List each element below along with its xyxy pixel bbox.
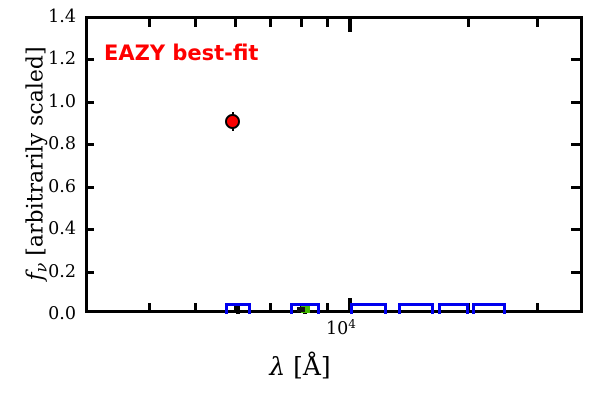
filter-box [438, 303, 469, 314]
filter-box [472, 303, 506, 314]
y-axis-title-rest: [arbitrarily scaled] [24, 46, 49, 262]
xtick-label-1e4: 104 [326, 317, 356, 339]
x-axis-title-symbol: λ [269, 352, 285, 381]
x-axis-title-unit: [Å] [293, 352, 331, 381]
figure-canvas: 1.4 1.2 1.0 0.8 0.6 0.4 0.2 0.0 [0, 0, 600, 400]
model-point-dark [297, 307, 305, 312]
filter-box [225, 303, 251, 314]
xtick-exponent: 4 [348, 317, 356, 331]
xtick-mantissa: 10 [326, 319, 348, 339]
y-axis-title: fν [arbitrarily scaled] [24, 0, 51, 328]
filter-box [350, 303, 387, 314]
filter-box [398, 303, 434, 314]
annotation-eazy-best-fit: EAZY best-fit [104, 41, 258, 65]
data-point-observed [225, 114, 240, 129]
y-axis-title-nu: ν [31, 263, 50, 273]
x-axis-title: λ [Å] [0, 352, 600, 381]
y-axis-title-f: f [24, 272, 49, 280]
